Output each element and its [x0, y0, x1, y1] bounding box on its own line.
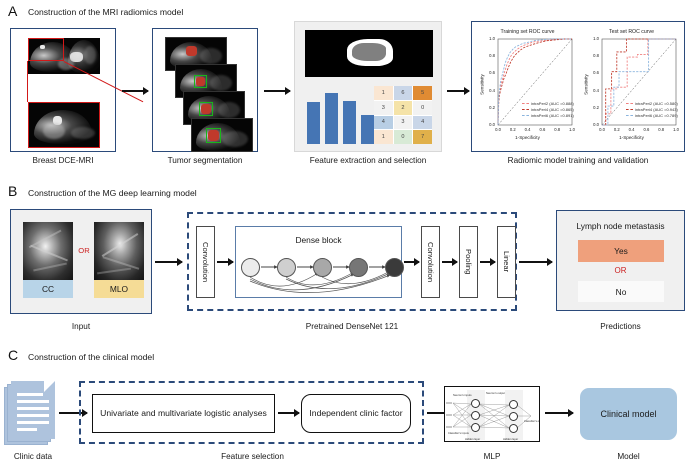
training-roc-xlabel: 1-Specificity — [476, 135, 579, 140]
matrix-cell: 1 — [374, 86, 393, 100]
convolution-label-1: Convolution — [201, 242, 210, 282]
caption-feature-selection: Feature selection — [180, 452, 325, 461]
matrix-cell: 0 — [394, 130, 413, 144]
dense-node-0 — [241, 258, 260, 277]
roc-ytick-label: 0.2 — [586, 105, 599, 110]
clinical-model-box: Clinical model — [580, 388, 677, 440]
roc-curves-box: Training set ROC curve Sensitivity 1-Spe… — [471, 21, 685, 152]
roc-legend-label: intraPeri2 (AUC =0.888) — [531, 101, 574, 106]
panel-a-letter: A — [8, 3, 18, 19]
roc-xtick-label: 1.0 — [671, 127, 681, 132]
mlp-node-h1-3 — [471, 423, 480, 432]
dense-node-1 — [277, 258, 296, 277]
prediction-no[interactable]: No — [578, 281, 664, 302]
input-box: CC OR MLO — [10, 209, 152, 314]
caption-clinic-data: Clinic data — [0, 452, 66, 461]
roc-ytick-label: 0.4 — [586, 88, 599, 93]
roc-ytick-label: 0.8 — [586, 53, 599, 58]
tumor-mask-image — [305, 30, 433, 77]
pooling-block: Pooling — [459, 226, 478, 298]
roc-xtick-label: 0.0 — [493, 127, 503, 132]
prediction-yes[interactable]: Yes — [578, 240, 664, 262]
panel-b-title: Construction of the MG deep learning mod… — [28, 188, 197, 198]
tumor-segmentation-box — [152, 28, 258, 152]
panel-c-letter: C — [8, 347, 18, 363]
prediction-or-label: OR — [557, 266, 684, 275]
roc-legend-label: intraPeri2 (AUC =0.580) — [635, 101, 678, 106]
roc-legend-label: intraPeri4 (AUC =0.865) — [531, 107, 574, 112]
roc-legend-item: intraPeri6 (AUC =0.891) — [522, 113, 574, 119]
roc-ytick-label: 0.6 — [482, 70, 495, 75]
caption-mlp: MLP — [444, 452, 540, 461]
linear-label: Linear — [502, 251, 511, 272]
roc-xtick-label: 0.4 — [523, 127, 533, 132]
roc-legend-swatch — [626, 115, 633, 116]
roc-xtick-label: 1.0 — [567, 127, 577, 132]
roc-xtick-label: 0.6 — [537, 127, 547, 132]
linear-block: Linear — [497, 226, 516, 298]
roc-legend-item: intraPeri6 (AUC =0.789) — [626, 113, 678, 119]
matrix-cell: 7 — [413, 130, 432, 144]
mlp-node-h2-2 — [509, 412, 518, 421]
dense-node-2 — [313, 258, 332, 277]
matrix-cell: 0 — [413, 101, 432, 115]
matrix-cell: 1 — [374, 130, 393, 144]
feature-bar-chart — [305, 86, 375, 144]
mlp-node-h2-1 — [509, 400, 518, 409]
convolution-block-1: Convolution — [196, 226, 215, 298]
pooling-label: Pooling — [464, 249, 473, 274]
roc-ytick-label: 0.2 — [482, 105, 495, 110]
mlp-hidden-layer-1-label: Hidden layer — [465, 438, 480, 441]
logistic-analyses-box: Univariate and multivariate logistic ana… — [92, 394, 275, 433]
mlp-neuron-inputs-label: Neuron's inputs — [453, 394, 472, 397]
seg-slice-4 — [191, 118, 253, 152]
caption-feature-extraction: Feature extraction and selection — [288, 156, 448, 165]
roc-ytick-label: 0.0 — [482, 122, 495, 127]
mlo-mammogram-image — [94, 222, 144, 280]
panel-a-title: Construction of the MRI radiomics model — [28, 7, 183, 17]
mlp-hidden-layer-2-label: Hidden layer — [503, 438, 518, 441]
panel-c-title: Construction of the clinical model — [28, 352, 154, 362]
predictions-title: Lymph node metastasis — [557, 221, 684, 231]
caption-predictions: Predictions — [556, 322, 685, 331]
cc-mammogram-image — [23, 222, 73, 280]
training-roc-legend: intraPeri2 (AUC =0.888)intraPeri4 (AUC =… — [522, 101, 574, 118]
mlp-neuron-output-label: Neuron's output — [486, 392, 505, 395]
dense-node-4 — [385, 258, 404, 277]
breast-dce-mri-box — [10, 28, 116, 152]
mlp-node-h1-2 — [471, 411, 480, 420]
caption-pretrained-densenet: Pretrained DenseNet 121 — [230, 322, 474, 331]
caption-model: Model — [580, 452, 677, 461]
roc-ytick-label: 1.0 — [482, 36, 495, 41]
test-roc-plot: Test set ROC curve Sensitivity 1-Specifi… — [580, 27, 683, 147]
clinic-data-icon — [4, 381, 62, 447]
feature-matrix: 165320434107 — [374, 86, 432, 144]
roc-legend-swatch — [522, 109, 529, 110]
roc-legend-swatch — [626, 103, 633, 104]
test-roc-legend: intraPeri2 (AUC =0.580)intraPeri4 (AUC =… — [626, 101, 678, 118]
independent-clinic-factor-box: Independent clinic factor — [301, 394, 411, 433]
mlp-diagram: Neuron's inputs Neuron's output Classifi… — [444, 386, 540, 442]
matrix-cell: 4 — [413, 116, 432, 130]
bar-0 — [307, 102, 320, 144]
roc-xtick-label: 0.8 — [552, 127, 562, 132]
roc-ytick-label: 0.0 — [586, 122, 599, 127]
roc-ytick-label: 0.6 — [586, 70, 599, 75]
roc-legend-swatch — [626, 109, 633, 110]
matrix-cell: 3 — [374, 101, 393, 115]
roc-xtick-label: 0.2 — [508, 127, 518, 132]
dense-node-3 — [349, 258, 368, 277]
convolution-label-2: Convolution — [426, 242, 435, 282]
roc-xtick-label: 0.2 — [612, 127, 622, 132]
training-roc-title: Training set ROC curve — [476, 29, 579, 35]
caption-breast-dce-mri: Breast DCE-MRI — [10, 156, 116, 165]
cc-label: CC — [23, 280, 73, 298]
matrix-cell: 4 — [374, 116, 393, 130]
mlp-node-h2-3 — [509, 424, 518, 433]
bar-2 — [343, 101, 356, 144]
test-roc-title: Test set ROC curve — [580, 29, 683, 35]
roc-ytick-label: 0.8 — [482, 53, 495, 58]
roc-ytick-label: 0.4 — [482, 88, 495, 93]
mlp-classifier-inputs-label: Classifier's inputs — [448, 432, 469, 435]
feature-extraction-box: 165320434107 — [294, 21, 442, 152]
roc-xtick-label: 0.8 — [656, 127, 666, 132]
roc-legend-swatch — [522, 115, 529, 116]
roc-legend-label: intraPeri4 (AUC =0.943) — [635, 107, 678, 112]
zoom-region-box — [28, 38, 64, 61]
roc-legend-swatch — [522, 103, 529, 104]
zoom-connector-left — [27, 61, 28, 102]
roc-xtick-label: 0.4 — [627, 127, 637, 132]
mlp-node-h1-1 — [471, 399, 480, 408]
panel-b-letter: B — [8, 183, 18, 199]
roc-xtick-label: 0.0 — [597, 127, 607, 132]
input-or-label: OR — [76, 246, 92, 255]
mlp-classifier-output-label: Classifier's output — [524, 420, 540, 423]
training-roc-plot: Training set ROC curve Sensitivity 1-Spe… — [476, 27, 579, 147]
roc-ytick-label: 1.0 — [586, 36, 599, 41]
convolution-block-2: Convolution — [421, 226, 440, 298]
mlo-label: MLO — [94, 280, 144, 298]
dense-block: Dense block — [235, 226, 402, 298]
matrix-cell: 3 — [394, 116, 413, 130]
caption-radiomic-model: Radiomic model training and validation — [471, 156, 685, 165]
bar-3 — [361, 115, 374, 144]
predictions-box: Lymph node metastasis Yes OR No — [556, 210, 685, 311]
mri-zoom-image — [29, 103, 99, 147]
caption-input: Input — [10, 322, 152, 331]
roc-legend-label: intraPeri6 (AUC =0.891) — [531, 113, 574, 118]
caption-tumor-segmentation: Tumor segmentation — [152, 156, 258, 165]
zoom-connector-right — [63, 61, 143, 103]
matrix-cell: 6 — [394, 86, 413, 100]
roc-xtick-label: 0.6 — [641, 127, 651, 132]
roc-legend-label: intraPeri6 (AUC =0.789) — [635, 113, 678, 118]
bar-1 — [325, 93, 338, 144]
matrix-cell: 2 — [394, 101, 413, 115]
matrix-cell: 5 — [413, 86, 432, 100]
test-roc-xlabel: 1-Specificity — [580, 135, 683, 140]
